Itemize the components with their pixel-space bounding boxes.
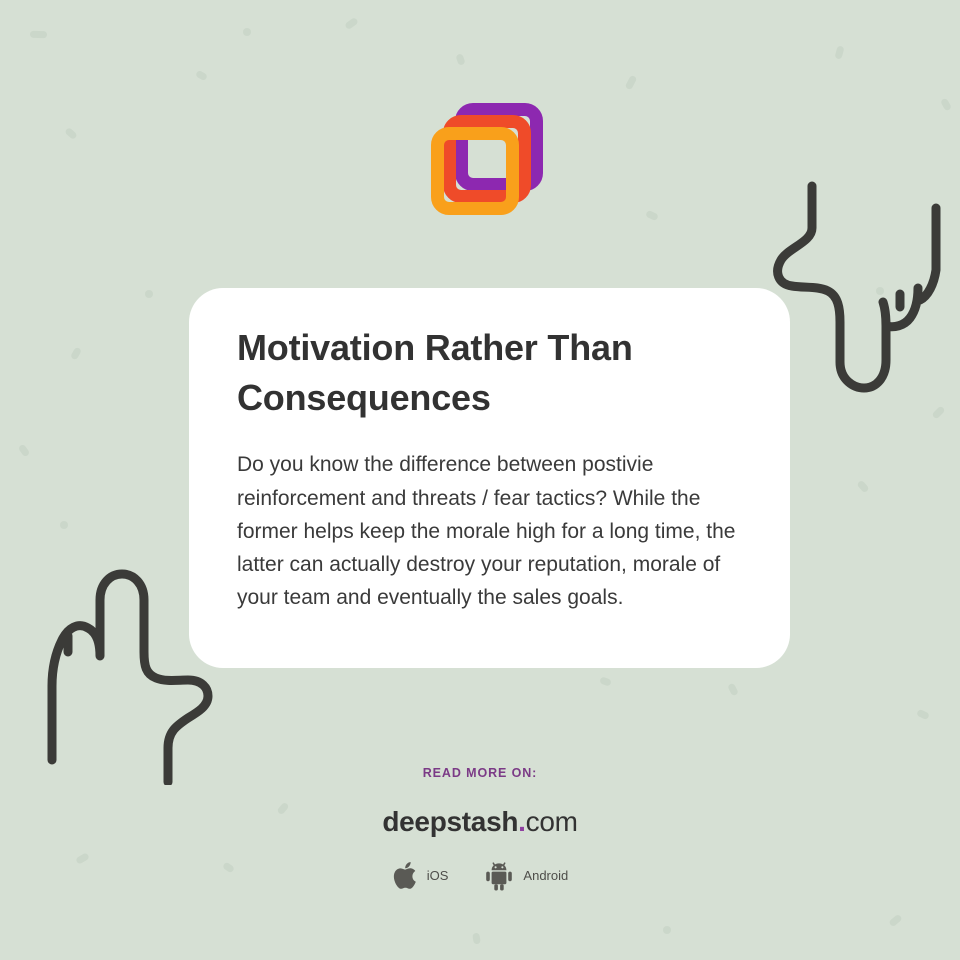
page-title: Motivation Rather Than Consequences (237, 323, 742, 422)
android-store-label: Android (523, 868, 568, 883)
wordmark-name: deepstash (382, 806, 518, 837)
confetti-speck (888, 914, 902, 928)
poster-canvas: Motivation Rather Than Consequences Do y… (0, 0, 960, 960)
confetti-speck (30, 31, 47, 39)
confetti-speck (70, 347, 82, 361)
idea-body-text: Do you know the difference between posti… (237, 448, 742, 614)
apple-icon (392, 860, 418, 891)
app-store-badges: iOS (0, 860, 960, 891)
wordmark-dot: . (518, 806, 525, 837)
android-icon (484, 860, 514, 891)
confetti-speck (243, 28, 251, 36)
android-store-badge[interactable]: Android (484, 860, 568, 891)
confetti-speck (856, 480, 869, 494)
confetti-speck (472, 932, 481, 944)
ios-store-badge[interactable]: iOS (392, 860, 449, 891)
confetti-speck (195, 70, 208, 82)
confetti-speck (145, 290, 153, 298)
confetti-speck (64, 127, 78, 140)
deepstash-cube-logo (430, 103, 518, 199)
confetti-speck (625, 75, 638, 91)
deepstash-wordmark[interactable]: deepstash.com (0, 806, 960, 838)
idea-card-content: Motivation Rather Than Consequences Do y… (189, 288, 790, 614)
confetti-speck (663, 926, 671, 934)
confetti-speck (18, 444, 31, 458)
confetti-speck (940, 98, 952, 112)
wordmark-tld: com (526, 806, 578, 837)
idea-card: Motivation Rather Than Consequences Do y… (189, 288, 790, 668)
confetti-speck (455, 53, 465, 66)
confetti-speck (727, 683, 739, 697)
footer: READ MORE ON: deepstash.com iOS (0, 766, 960, 891)
confetti-speck (916, 709, 930, 720)
ios-store-label: iOS (427, 868, 449, 883)
confetti-speck (344, 17, 359, 30)
logo-square-orange (431, 127, 519, 215)
read-more-label: READ MORE ON: (0, 766, 960, 780)
confetti-speck (645, 210, 659, 221)
confetti-speck (599, 676, 612, 686)
confetti-speck (60, 521, 68, 529)
confetti-speck (834, 45, 844, 59)
confetti-speck (931, 405, 945, 419)
confetti-speck (876, 287, 884, 295)
